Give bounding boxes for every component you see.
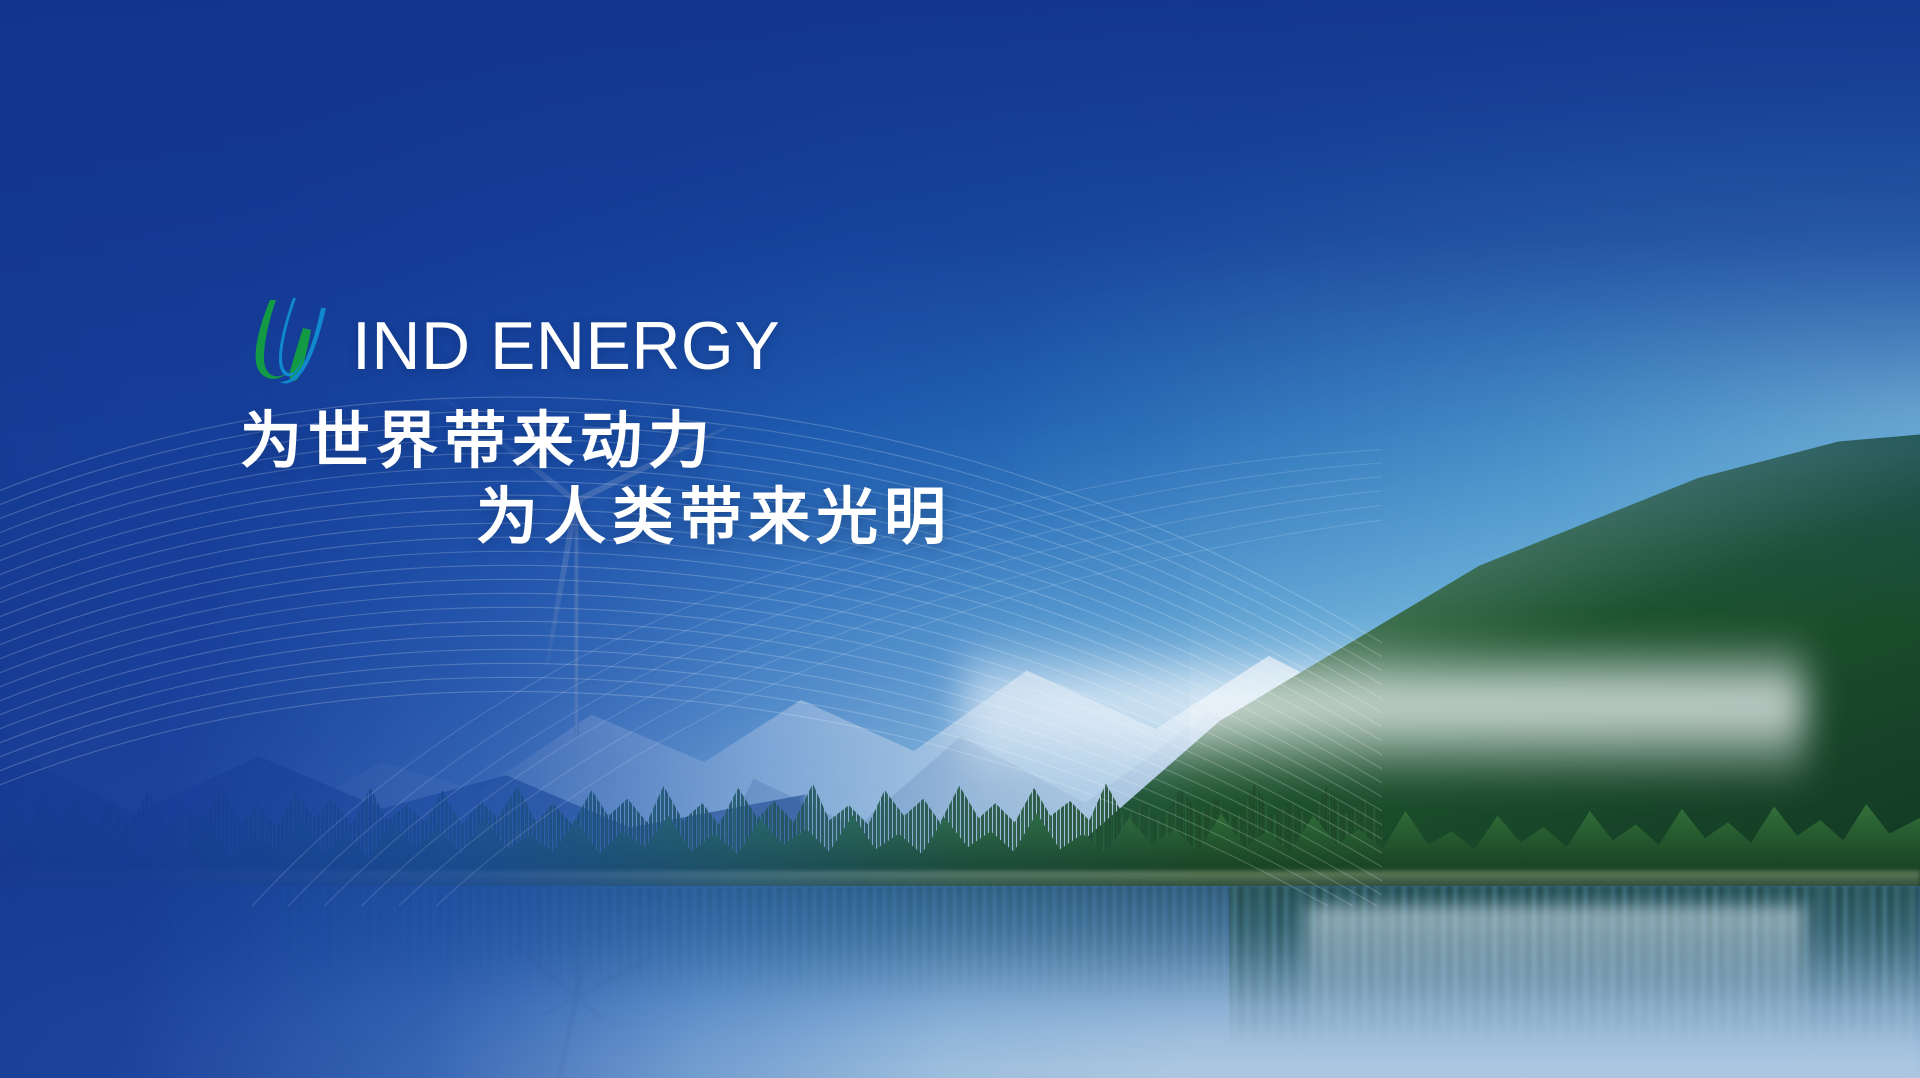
slogan-line-2: 为人类带来光明 (240, 480, 1440, 556)
slogan-block: 为世界带来动力 为人类带来光明 (240, 404, 1440, 555)
wind-w-logo-icon (240, 294, 348, 386)
slogan-line-1: 为世界带来动力 (240, 404, 1440, 480)
brand-lockup: IND ENERGY (240, 296, 1440, 382)
brand-copy-block: IND ENERGY 为世界带来动力 为人类带来光明 (240, 296, 1440, 555)
brand-wordmark: IND ENERGY (352, 312, 780, 380)
banner-stage: IND ENERGY 为世界带来动力 为人类带来光明 (0, 0, 1920, 1078)
